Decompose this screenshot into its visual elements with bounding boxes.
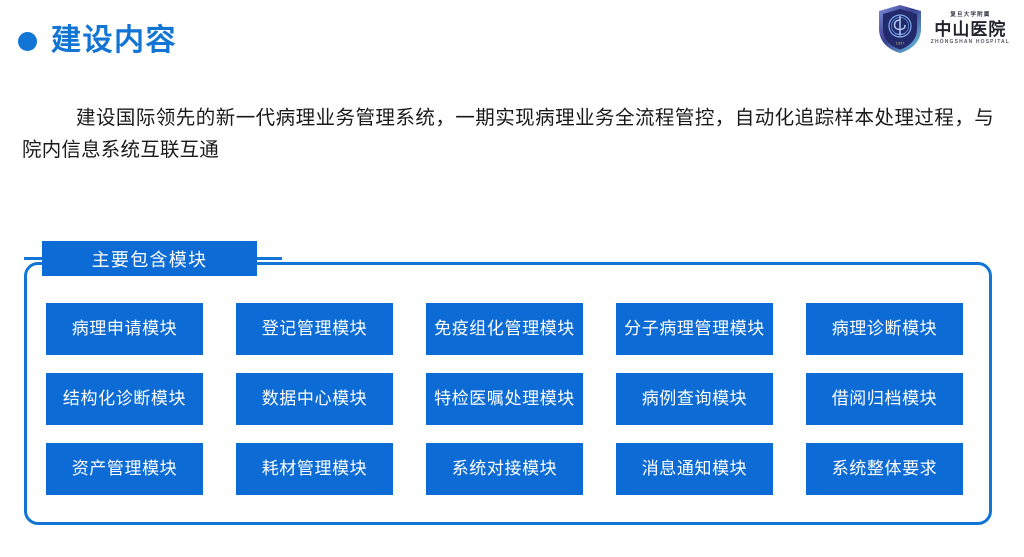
hospital-logo: 1937 复旦大学附属 中山医院 ZHONGSHAN HOSPITAL	[877, 3, 1010, 55]
module-box-label: 借阅归档模块	[832, 389, 938, 410]
module-box-label: 系统对接模块	[452, 459, 558, 480]
module-box[interactable]: 免疫组化管理模块	[426, 303, 583, 355]
filled-circle-bullet-icon	[18, 32, 37, 51]
page-title-row: 建设内容	[0, 18, 700, 64]
module-box[interactable]: 耗材管理模块	[236, 443, 393, 495]
hospital-shield-emblem-icon: 1937	[877, 4, 923, 54]
module-box[interactable]: 消息通知模块	[616, 443, 773, 495]
module-box[interactable]: 分子病理管理模块	[616, 303, 773, 355]
module-box[interactable]: 特检医嘱处理模块	[426, 373, 583, 425]
module-box-label: 特检医嘱处理模块	[434, 389, 575, 410]
module-box-label: 分子病理管理模块	[624, 319, 765, 340]
module-box-label: 消息通知模块	[642, 459, 748, 480]
module-box[interactable]: 登记管理模块	[236, 303, 393, 355]
module-box-label: 登记管理模块	[262, 319, 368, 340]
module-box[interactable]: 系统整体要求	[806, 443, 963, 495]
module-box-label: 数据中心模块	[262, 389, 368, 410]
module-box-label: 免疫组化管理模块	[434, 319, 575, 340]
module-box[interactable]: 病理诊断模块	[806, 303, 963, 355]
module-box-label: 病理诊断模块	[832, 319, 938, 340]
module-box-label: 病理申请模块	[72, 319, 178, 340]
module-box-label: 病例查询模块	[642, 389, 748, 410]
module-box[interactable]: 资产管理模块	[46, 443, 203, 495]
hospital-name-en: ZHONGSHAN HOSPITAL	[931, 40, 1010, 45]
slide-canvas: 建设内容 1937 复旦大学附属 中山医院 ZHONGSHAN HOSPITAL	[0, 0, 1024, 557]
module-box[interactable]: 借阅归档模块	[806, 373, 963, 425]
hospital-name: 中山医院	[934, 21, 1006, 38]
module-box[interactable]: 病理申请模块	[46, 303, 203, 355]
module-box-label: 系统整体要求	[832, 459, 938, 480]
body-paragraph: 建设国际领先的新一代病理业务管理系统，一期实现病理业务全流程管控，自动化追踪样本…	[22, 103, 994, 166]
modules-banner-label: 主要包含模块	[42, 241, 257, 276]
module-box[interactable]: 病例查询模块	[616, 373, 773, 425]
hospital-affiliation: 复旦大学附属	[950, 13, 990, 19]
modules-grid: 病理申请模块登记管理模块免疫组化管理模块分子病理管理模块病理诊断模块结构化诊断模…	[46, 303, 963, 495]
module-box[interactable]: 数据中心模块	[236, 373, 393, 425]
svg-text:1937: 1937	[895, 41, 905, 46]
page-title: 建设内容	[51, 26, 177, 56]
module-box[interactable]: 结构化诊断模块	[46, 373, 203, 425]
module-box[interactable]: 系统对接模块	[426, 443, 583, 495]
module-box-label: 资产管理模块	[72, 459, 178, 480]
hospital-logo-text: 复旦大学附属 中山医院 ZHONGSHAN HOSPITAL	[931, 13, 1010, 45]
module-box-label: 结构化诊断模块	[63, 389, 186, 410]
modules-banner-label-text: 主要包含模块	[92, 246, 208, 272]
module-box-label: 耗材管理模块	[262, 459, 368, 480]
